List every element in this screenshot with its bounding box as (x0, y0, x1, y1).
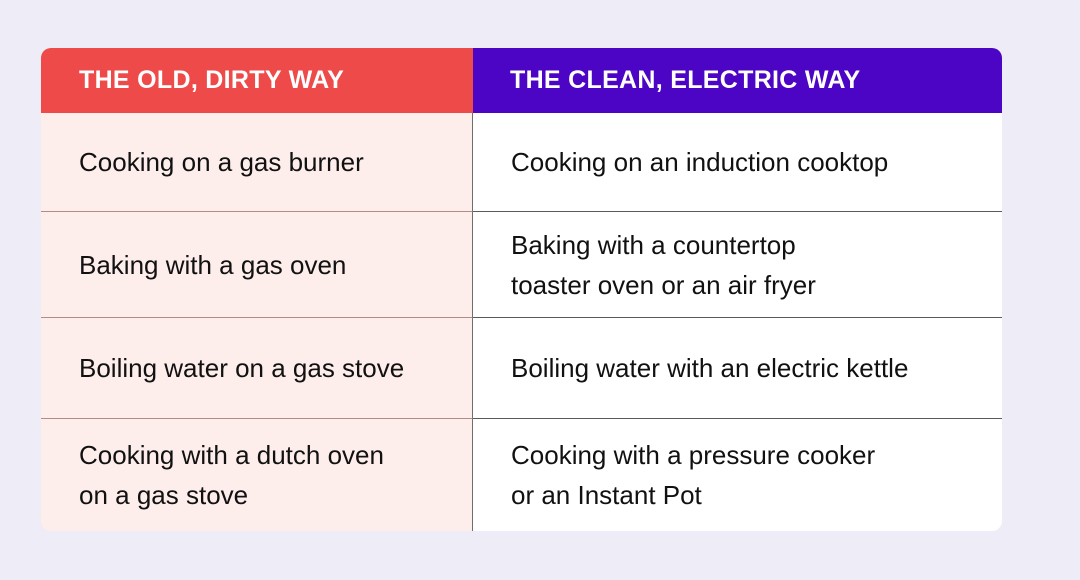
cell-clean-4: Cooking with a pressure cooker or an Ins… (511, 435, 875, 515)
cell-clean-1: Cooking on an induction cooktop (511, 142, 888, 182)
cell-old-2: Baking with a gas oven (79, 245, 346, 285)
column-header-label-clean: THE CLEAN, ELECTRIC WAY (510, 66, 860, 95)
comparison-table: THE OLD, DIRTY WAY THE CLEAN, ELECTRIC W… (41, 48, 1002, 531)
table-row: Cooking with a pressure cooker or an Ins… (473, 419, 1002, 531)
cell-clean-2: Baking with a countertop toaster oven or… (511, 225, 816, 305)
column-header-label-old: THE OLD, DIRTY WAY (79, 66, 344, 95)
table-header-cell-old-way: THE OLD, DIRTY WAY (41, 48, 473, 113)
cell-clean-3: Boiling water with an electric kettle (511, 348, 908, 388)
table-row: Baking with a countertop toaster oven or… (473, 212, 1002, 318)
table-row: Cooking on an induction cooktop (473, 113, 1002, 212)
table-row: Cooking on a gas burner (41, 113, 473, 212)
table-row: Boiling water on a gas stove (41, 318, 473, 419)
table-row: Boiling water with an electric kettle (473, 318, 1002, 419)
cell-old-1: Cooking on a gas burner (79, 142, 364, 182)
table-row: Baking with a gas oven (41, 212, 473, 318)
cell-old-3: Boiling water on a gas stove (79, 348, 404, 388)
page-canvas: THE OLD, DIRTY WAY THE CLEAN, ELECTRIC W… (0, 0, 1080, 580)
cell-old-4: Cooking with a dutch oven on a gas stove (79, 435, 384, 515)
table-header-cell-clean-way: THE CLEAN, ELECTRIC WAY (473, 48, 1002, 113)
table-row: Cooking with a dutch oven on a gas stove (41, 419, 473, 531)
